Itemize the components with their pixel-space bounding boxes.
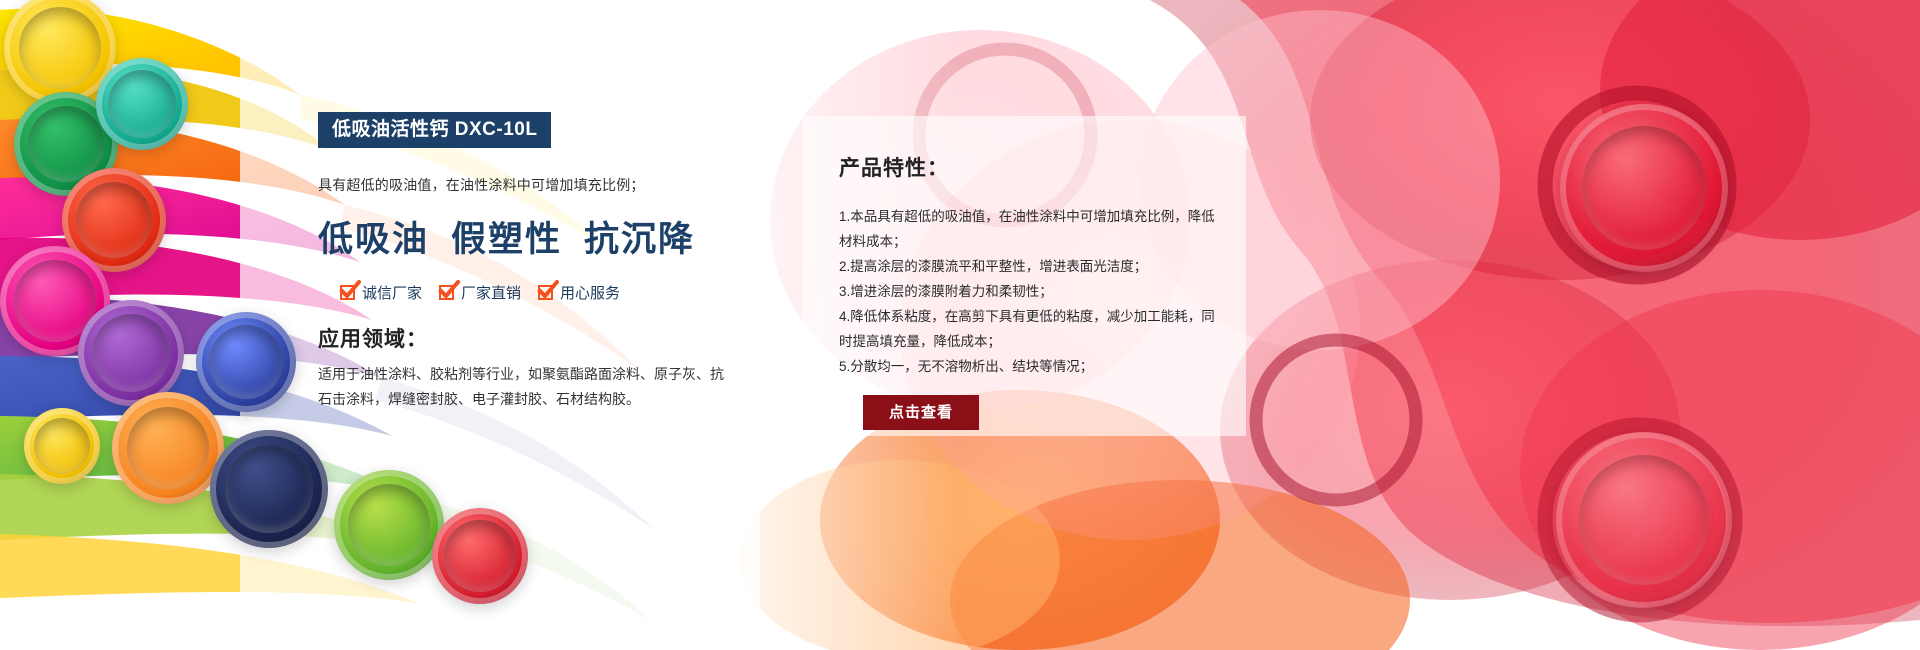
- paint-can-orange: [112, 392, 224, 504]
- paint-can-navy: [210, 430, 328, 548]
- paint-can-crimson: [432, 508, 528, 604]
- trust-tag-list: 诚信厂家 厂家直销 用心服务: [340, 282, 738, 303]
- check-box-icon: [340, 284, 357, 301]
- application-heading: 应用领域：: [318, 323, 738, 353]
- feature-list-item: 2.提高涂层的漆膜流平和平整性，增进表面光洁度；: [839, 254, 1218, 279]
- trust-tag-1: 诚信厂家: [340, 282, 422, 303]
- paint-can-teal: [96, 58, 188, 150]
- product-title-chip: 低吸油活性钙 DXC-10L: [318, 112, 551, 148]
- view-details-button[interactable]: 点击查看: [863, 395, 979, 430]
- trust-tag-label: 用心服务: [560, 282, 620, 303]
- trust-tag-label: 诚信厂家: [362, 282, 422, 303]
- feature-list-item: 5.分散均一，无不溶物析出、结块等情况；: [839, 354, 1218, 379]
- panel-title: 产品特性：: [839, 152, 1218, 182]
- headline-word-3: 抗沉降: [584, 220, 695, 259]
- feature-list-item: 1.本品具有超低的吸油值，在油性涂料中可增加填充比例，降低材料成本；: [839, 204, 1218, 254]
- promo-banner: 低吸油活性钙 DXC-10L 具有超低的吸油值，在油性涂料中可增加填充比例； 低…: [0, 0, 1920, 650]
- paint-can-yellow-small: [24, 408, 100, 484]
- trust-tag-3: 用心服务: [538, 282, 620, 303]
- trust-tag-2: 厂家直销: [439, 282, 521, 303]
- left-content-column: 低吸油活性钙 DXC-10L 具有超低的吸油值，在油性涂料中可增加填充比例； 低…: [318, 112, 738, 412]
- feature-list-item: 3.增进涂层的漆膜附着力和柔韧性；: [839, 279, 1218, 304]
- feature-list: 1.本品具有超低的吸油值，在油性涂料中可增加填充比例，降低材料成本； 2.提高涂…: [839, 204, 1218, 379]
- paint-tin-red-right: [1560, 104, 1728, 272]
- headline-word-1: 低吸油: [318, 220, 429, 259]
- check-box-icon: [538, 284, 555, 301]
- application-body: 适用于油性涂料、胶粘剂等行业，如聚氨酯路面涂料、原子灰、抗石击涂料，焊缝密封胶、…: [318, 362, 726, 412]
- paint-can-purple: [78, 300, 184, 406]
- headline-keywords: 低吸油假塑性抗沉降: [318, 211, 738, 262]
- headline-word-2: 假塑性: [451, 220, 562, 259]
- feature-list-item: 4.降低体系粘度，在高剪下具有更低的粘度，减少加工能耗，同时提高填充量，降低成本…: [839, 304, 1218, 354]
- paint-can-blue: [196, 312, 296, 412]
- product-subline: 具有超低的吸油值，在油性涂料中可增加填充比例；: [318, 175, 738, 195]
- trust-tag-label: 厂家直销: [461, 282, 521, 303]
- check-box-icon: [439, 284, 456, 301]
- product-features-panel: 产品特性： 1.本品具有超低的吸油值，在油性涂料中可增加填充比例，降低材料成本；…: [803, 116, 1246, 436]
- paint-tin-red-lower: [1556, 432, 1732, 608]
- paint-can-lime: [334, 470, 444, 580]
